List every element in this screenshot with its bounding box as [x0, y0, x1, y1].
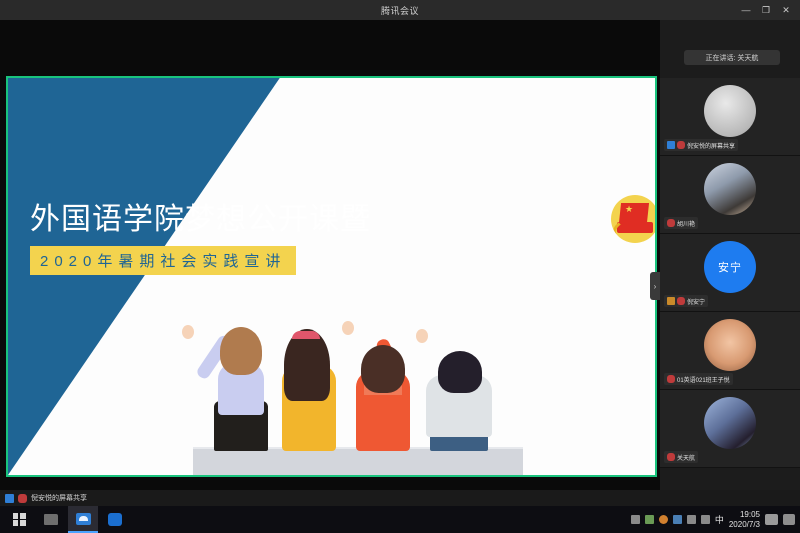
wechat-icon: [108, 513, 122, 526]
tray-volume-icon[interactable]: [687, 515, 696, 524]
student-figure-4: [422, 317, 500, 451]
screen-share-icon: [5, 494, 14, 503]
close-icon[interactable]: ✕: [776, 0, 796, 20]
tencent-meeting-window: 腾讯会议 — ❐ ✕ 外国语学院梦想公开课暨 2020年暑期社会实践宣讲 ★: [0, 0, 800, 533]
clock-date: 2020/7/3: [729, 520, 760, 530]
avatar: 安宁: [704, 241, 756, 293]
participant-namebar: 倪安宁: [664, 295, 708, 307]
avatar: [704, 163, 756, 215]
clock-time: 19:05: [740, 510, 760, 520]
ime-indicator[interactable]: 中: [715, 513, 724, 526]
participant-name: 倪安悦的屏幕共享: [687, 141, 735, 150]
tray-input-icon[interactable]: [765, 514, 778, 525]
emblem-star: ★: [625, 205, 633, 214]
figure-4-hair: [438, 351, 482, 393]
participant-name: 01英语021班王子悦: [677, 375, 730, 384]
microphone-muted-icon: [18, 494, 27, 503]
windows-logo-icon: [13, 513, 26, 526]
participant-tile[interactable]: 01英语021班王子悦: [660, 312, 800, 390]
window-controls: — ❐ ✕: [736, 0, 800, 20]
participant-namebar: 胡川艳: [664, 217, 698, 229]
host-icon: [667, 297, 675, 305]
active-speaker-label: 正在讲话: 关天航: [706, 53, 759, 63]
microphone-muted-icon: [677, 141, 685, 149]
participant-name: 胡川艳: [677, 219, 695, 228]
student-figure-1: [208, 311, 274, 451]
microphone-muted-icon: [667, 219, 675, 227]
tray-notification-icon[interactable]: [783, 514, 795, 525]
figure-2-hair: [284, 329, 330, 401]
participant-name: 关天航: [677, 453, 695, 462]
start-button[interactable]: [4, 507, 34, 532]
avatar: [704, 397, 756, 449]
avatar: [704, 319, 756, 371]
participant-name: 倪安宁: [687, 297, 705, 306]
title-bar: 腾讯会议 — ❐ ✕: [0, 0, 800, 20]
share-status-text: 倪安悦的屏幕共享: [31, 493, 87, 503]
participant-namebar: 倪安悦的屏幕共享: [664, 139, 738, 151]
tray-network-icon[interactable]: [645, 515, 654, 524]
participant-panel: 正在讲话: 关天航 倪安悦的屏幕共享 胡川艳 安宁: [660, 20, 800, 490]
students-illustration: [8, 260, 655, 475]
participant-namebar: 关天航: [664, 451, 698, 463]
tray-app-icon[interactable]: [659, 515, 668, 524]
emblem-wheat: [613, 217, 655, 243]
maximize-icon[interactable]: ❐: [756, 0, 776, 20]
windows-taskbar: 中 19:05 2020/7/3: [0, 506, 800, 533]
tray-wifi-icon[interactable]: [701, 515, 710, 524]
participant-tile[interactable]: 胡川艳: [660, 156, 800, 234]
active-speaker-badge: 正在讲话: 关天航: [684, 50, 780, 65]
avatar: [704, 85, 756, 137]
microphone-muted-icon: [667, 453, 675, 461]
clock[interactable]: 19:05 2020/7/3: [729, 510, 760, 530]
slide-title: 外国语学院梦想公开课暨: [30, 194, 371, 238]
window-title: 腾讯会议: [381, 4, 419, 17]
figure-3-hair: [361, 345, 405, 393]
student-figure-3: [348, 311, 418, 451]
avatar-initials: 安宁: [718, 259, 742, 275]
taskbar-wechat[interactable]: [100, 507, 130, 532]
tray-display-icon[interactable]: [673, 515, 682, 524]
figure-1-hair: [220, 327, 262, 375]
share-status-bar: 倪安悦的屏幕共享: [0, 490, 800, 506]
student-figure-2: [274, 305, 344, 451]
panel-collapse-handle[interactable]: ›: [650, 272, 660, 300]
participant-namebar: 01英语021班王子悦: [664, 373, 733, 385]
folder-icon: [44, 514, 58, 525]
participant-tile[interactable]: 关天航: [660, 390, 800, 468]
system-tray: 中 19:05 2020/7/3: [631, 510, 800, 530]
meeting-icon: [76, 513, 91, 525]
minimize-icon[interactable]: —: [736, 0, 756, 20]
taskbar-tencent-meeting[interactable]: [68, 506, 98, 533]
taskbar-buttons: [0, 506, 130, 533]
figure-1-hand: [182, 325, 194, 339]
participant-tile[interactable]: 安宁 倪安宁: [660, 234, 800, 312]
participant-tile[interactable]: 倪安悦的屏幕共享: [660, 78, 800, 156]
figure-2-hairband: [292, 331, 320, 339]
tray-show-hidden-icon[interactable]: [631, 515, 640, 524]
presentation-slide: 外国语学院梦想公开课暨 2020年暑期社会实践宣讲 ★: [8, 78, 655, 475]
microphone-muted-icon: [677, 297, 685, 305]
taskbar-file-explorer[interactable]: [36, 507, 66, 532]
communist-youth-league-emblem-icon: ★: [611, 195, 655, 243]
bench: [193, 449, 523, 475]
microphone-muted-icon: [667, 375, 675, 383]
screen-share-icon: [667, 141, 675, 149]
shared-screen-stage: 外国语学院梦想公开课暨 2020年暑期社会实践宣讲 ★: [0, 20, 660, 490]
